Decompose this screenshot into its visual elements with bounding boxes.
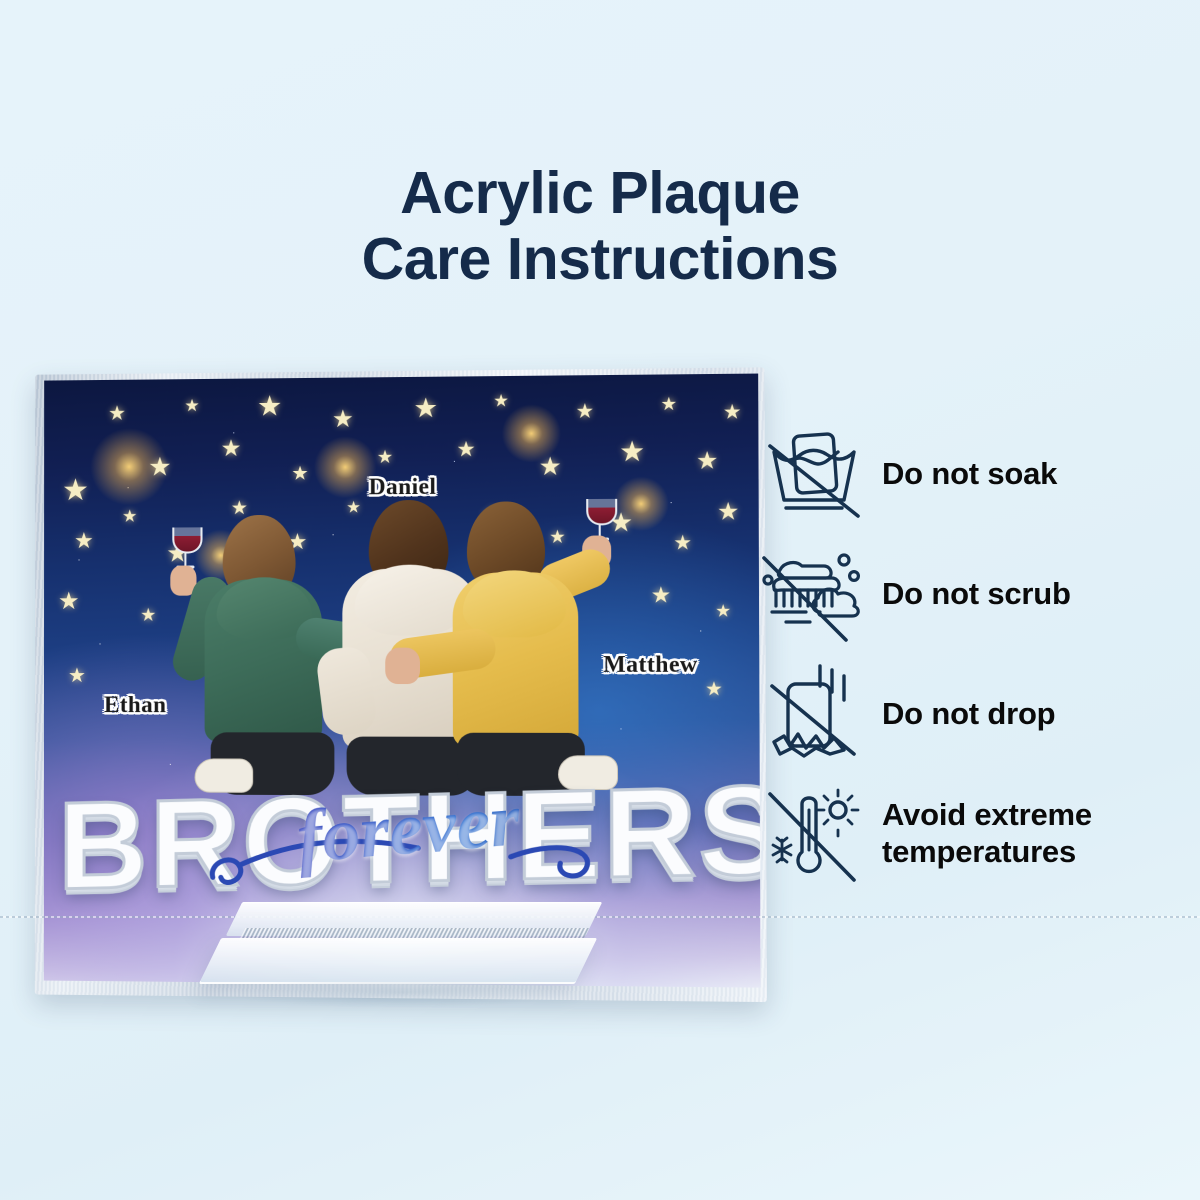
care-label-no-scrub: Do not scrub bbox=[870, 576, 1071, 613]
star-icon: ★ bbox=[705, 680, 723, 699]
care-label-no-drop: Do not drop bbox=[870, 696, 1055, 733]
star-icon: ★ bbox=[108, 404, 126, 424]
star-icon: ★ bbox=[257, 392, 282, 420]
star-icon: ★ bbox=[723, 402, 742, 423]
star-icon: ★ bbox=[651, 584, 672, 606]
star-icon: ★ bbox=[413, 395, 438, 422]
page-title-line-2: Care Instructions bbox=[0, 226, 1200, 292]
star-icon: ★ bbox=[377, 448, 393, 466]
no-drop-icon bbox=[758, 662, 870, 766]
star-icon: ★ bbox=[539, 455, 562, 481]
star-icon: ★ bbox=[140, 606, 156, 624]
star-icon: ★ bbox=[291, 464, 308, 483]
star-icon: ★ bbox=[619, 438, 645, 467]
acrylic-stand bbox=[196, 898, 616, 1018]
star-icon: ★ bbox=[184, 397, 199, 414]
star-icon: ★ bbox=[673, 533, 692, 553]
star-icon: ★ bbox=[62, 476, 89, 506]
care-row-no-soak: Do not soak bbox=[758, 418, 1190, 530]
care-instructions-page: Acrylic Plaque Care Instructions ★ ★ ★ ★… bbox=[0, 0, 1200, 1200]
star-icon: ★ bbox=[696, 449, 718, 474]
star-icon: ★ bbox=[346, 500, 361, 516]
star-icon: ★ bbox=[58, 590, 80, 614]
page-title: Acrylic Plaque Care Instructions bbox=[0, 160, 1200, 292]
no-soak-icon bbox=[758, 424, 870, 524]
page-title-line-1: Acrylic Plaque bbox=[0, 160, 1200, 226]
care-label-no-extreme-temp: Avoid extreme temperatures bbox=[870, 797, 1092, 870]
star-icon: ★ bbox=[231, 499, 248, 518]
star-icon: ★ bbox=[717, 500, 740, 525]
star-icon: ★ bbox=[549, 528, 566, 546]
person-name-left: Ethan bbox=[104, 692, 166, 718]
person-name-right: Matthew bbox=[603, 651, 698, 678]
star-icon: ★ bbox=[148, 453, 171, 479]
person-name-center: Daniel bbox=[369, 474, 437, 501]
no-extreme-temp-icon bbox=[758, 784, 870, 884]
star-icon: ★ bbox=[221, 437, 242, 460]
star-icon: ★ bbox=[68, 666, 86, 686]
star-icon: ★ bbox=[122, 508, 137, 525]
care-label-line-1: Avoid extreme bbox=[882, 797, 1092, 832]
hand bbox=[385, 648, 420, 684]
care-label-no-soak: Do not soak bbox=[870, 456, 1057, 493]
star-icon: ★ bbox=[660, 395, 677, 413]
star-icon: ★ bbox=[332, 408, 354, 432]
star-icon: ★ bbox=[715, 602, 731, 619]
plaque-artwork: ★ ★ ★ ★ ★ ★ ★ ★ ★ ★ ★ ★ ★ ★ ★ ★ ★ ★ ★ ★ bbox=[44, 374, 761, 988]
care-row-no-drop: Do not drop bbox=[758, 658, 1190, 770]
stand-shadow bbox=[220, 982, 583, 1008]
care-label-line-2: temperatures bbox=[882, 834, 1076, 869]
care-row-no-scrub: Do not scrub bbox=[758, 538, 1190, 650]
no-scrub-icon bbox=[758, 544, 870, 644]
star-icon: ★ bbox=[576, 402, 595, 422]
care-instructions-list: Do not soak Do not scrub bbox=[758, 418, 1190, 898]
stand-front-face bbox=[199, 938, 597, 984]
acrylic-plaque: ★ ★ ★ ★ ★ ★ ★ ★ ★ ★ ★ ★ ★ ★ ★ ★ ★ ★ ★ ★ bbox=[44, 374, 761, 988]
star-icon: ★ bbox=[493, 392, 509, 409]
star-icon: ★ bbox=[456, 439, 475, 460]
care-row-no-extreme-temp: Avoid extreme temperatures bbox=[758, 778, 1190, 890]
star-glow bbox=[314, 436, 377, 499]
star-icon: ★ bbox=[74, 530, 94, 552]
